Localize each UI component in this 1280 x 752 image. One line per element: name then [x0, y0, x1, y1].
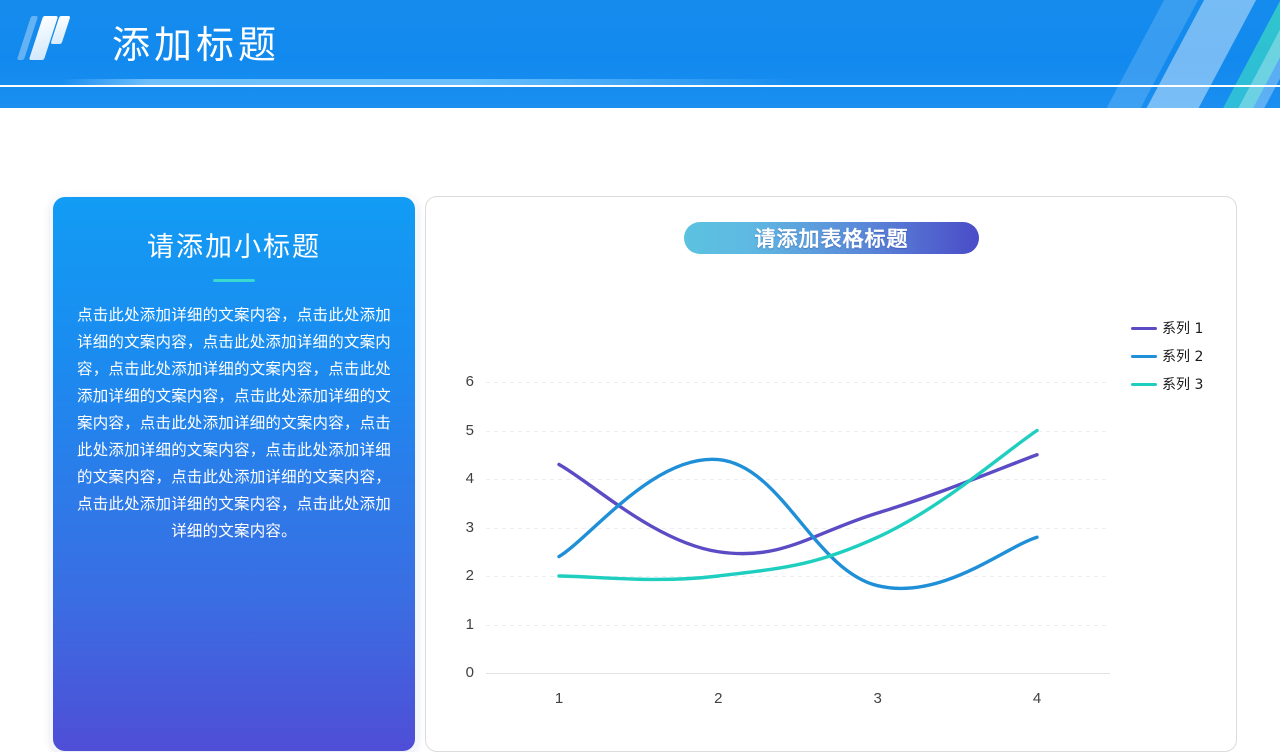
x-axis-tick-label: 3	[858, 690, 898, 707]
series-line	[559, 459, 1037, 588]
legend-color-swatch	[1131, 383, 1157, 386]
page-header: 添加标题	[0, 0, 1280, 108]
chart-legend: 系列 1系列 2系列 3	[1131, 314, 1231, 398]
series-line	[559, 455, 1037, 554]
legend-item[interactable]: 系列 3	[1131, 370, 1231, 398]
x-axis-tick-label: 2	[698, 690, 738, 707]
diagonal-stripes-decoration-icon	[1020, 0, 1280, 108]
left-card-title: 请添加小标题	[77, 225, 391, 264]
header-divider	[0, 85, 1280, 87]
legend-item-label: 系列 3	[1162, 374, 1203, 394]
left-card-body-text: 点击此处添加详细的文案内容，点击此处添加详细的文案内容，点击此处添加详细的文案内…	[77, 302, 391, 545]
x-axis-tick-label: 4	[1017, 690, 1057, 707]
page-title: 添加标题	[112, 14, 280, 69]
left-card-divider	[213, 279, 255, 282]
legend-color-swatch	[1131, 327, 1157, 330]
left-text-card[interactable]: 请添加小标题 点击此处添加详细的文案内容，点击此处添加详细的文案内容，点击此处添…	[53, 197, 415, 751]
chart-card[interactable]: 请添加表格标题 0123456 1234 系列 1系列 2系列 3	[425, 196, 1237, 752]
legend-item-label: 系列 1	[1162, 318, 1203, 338]
series-line	[559, 431, 1037, 580]
legend-item-label: 系列 2	[1162, 346, 1203, 366]
legend-item[interactable]: 系列 1	[1131, 314, 1231, 342]
legend-item[interactable]: 系列 2	[1131, 342, 1231, 370]
slanted-bars-logo-icon	[22, 12, 78, 60]
line-chart-plot: 0123456 1234	[426, 197, 1237, 752]
chart-series-lines	[426, 197, 1237, 752]
legend-color-swatch	[1131, 355, 1157, 358]
slide-body: 请添加小标题 点击此处添加详细的文案内容，点击此处添加详细的文案内容，点击此处添…	[0, 108, 1280, 720]
x-axis-tick-label: 1	[539, 690, 579, 707]
